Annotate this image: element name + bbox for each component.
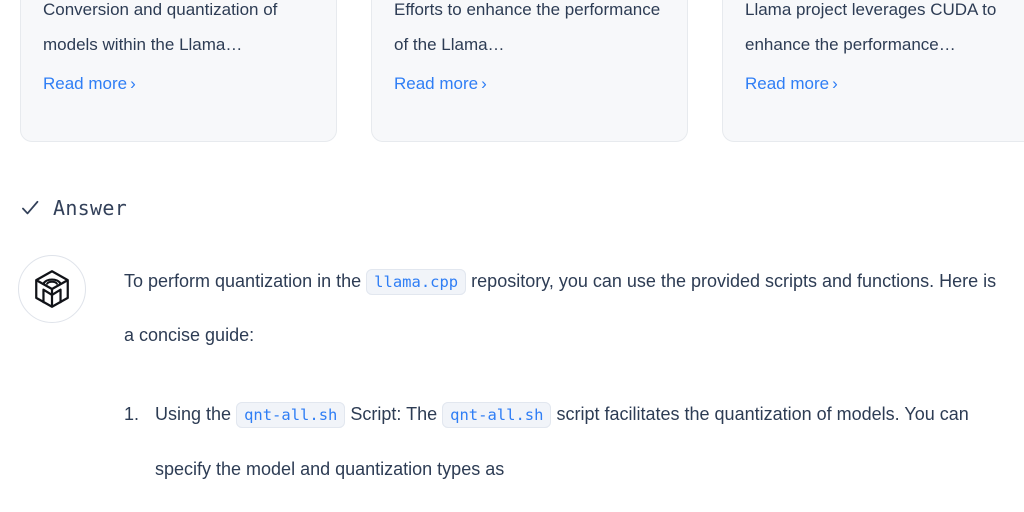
chevron-right-icon: ›: [481, 74, 487, 93]
source-card[interactable]: Quantization Techniqu... Efforts to enha…: [371, 0, 688, 142]
answer-body: To perform quantization in the llama.cpp…: [18, 255, 1024, 496]
list-item-part2: Script: The: [350, 404, 437, 424]
chevron-right-icon: ›: [832, 74, 838, 93]
answer-ordered-list: Using the qnt-all.sh Script: The qnt-all…: [124, 387, 1004, 496]
read-more-link[interactable]: Read more›: [43, 73, 136, 95]
source-card-description: Llama project leverages CUDA to enhance …: [745, 0, 1016, 62]
answer-text: To perform quantization in the llama.cpp…: [124, 255, 1024, 496]
check-icon: [20, 198, 40, 218]
source-card-description: Efforts to enhance the performance of th…: [394, 0, 665, 62]
source-card-description: Conversion and quantization of models wi…: [43, 0, 314, 62]
answer-paragraph: To perform quantization in the llama.cpp…: [124, 255, 1004, 362]
read-more-label: Read more: [745, 74, 829, 93]
list-item: Using the qnt-all.sh Script: The qnt-all…: [124, 387, 1004, 496]
answer-label: Answer: [53, 196, 127, 220]
source-card[interactable]: Model Conversion and ... Conversion and …: [20, 0, 337, 142]
source-card[interactable]: CUDA Acceleration an... Llama project le…: [722, 0, 1024, 142]
source-cards-row: Model Conversion and ... Conversion and …: [20, 0, 1024, 142]
chevron-right-icon: ›: [130, 74, 136, 93]
read-more-label: Read more: [43, 74, 127, 93]
avatar: [18, 255, 86, 323]
read-more-link[interactable]: Read more›: [745, 73, 838, 95]
answer-page: Model Conversion and ... Conversion and …: [0, 0, 1024, 512]
answer-header: Answer: [20, 196, 127, 220]
mintlify-cube-logo-icon: [31, 268, 73, 310]
inline-code-llama-cpp: llama.cpp: [366, 269, 466, 295]
inline-code-qnt-all-sh: qnt-all.sh: [236, 402, 345, 428]
read-more-link[interactable]: Read more›: [394, 73, 487, 95]
answer-paragraph-part1: To perform quantization in the: [124, 271, 361, 291]
inline-code-qnt-all-sh: qnt-all.sh: [442, 402, 551, 428]
read-more-label: Read more: [394, 74, 478, 93]
list-item-part1: Using the: [155, 404, 231, 424]
